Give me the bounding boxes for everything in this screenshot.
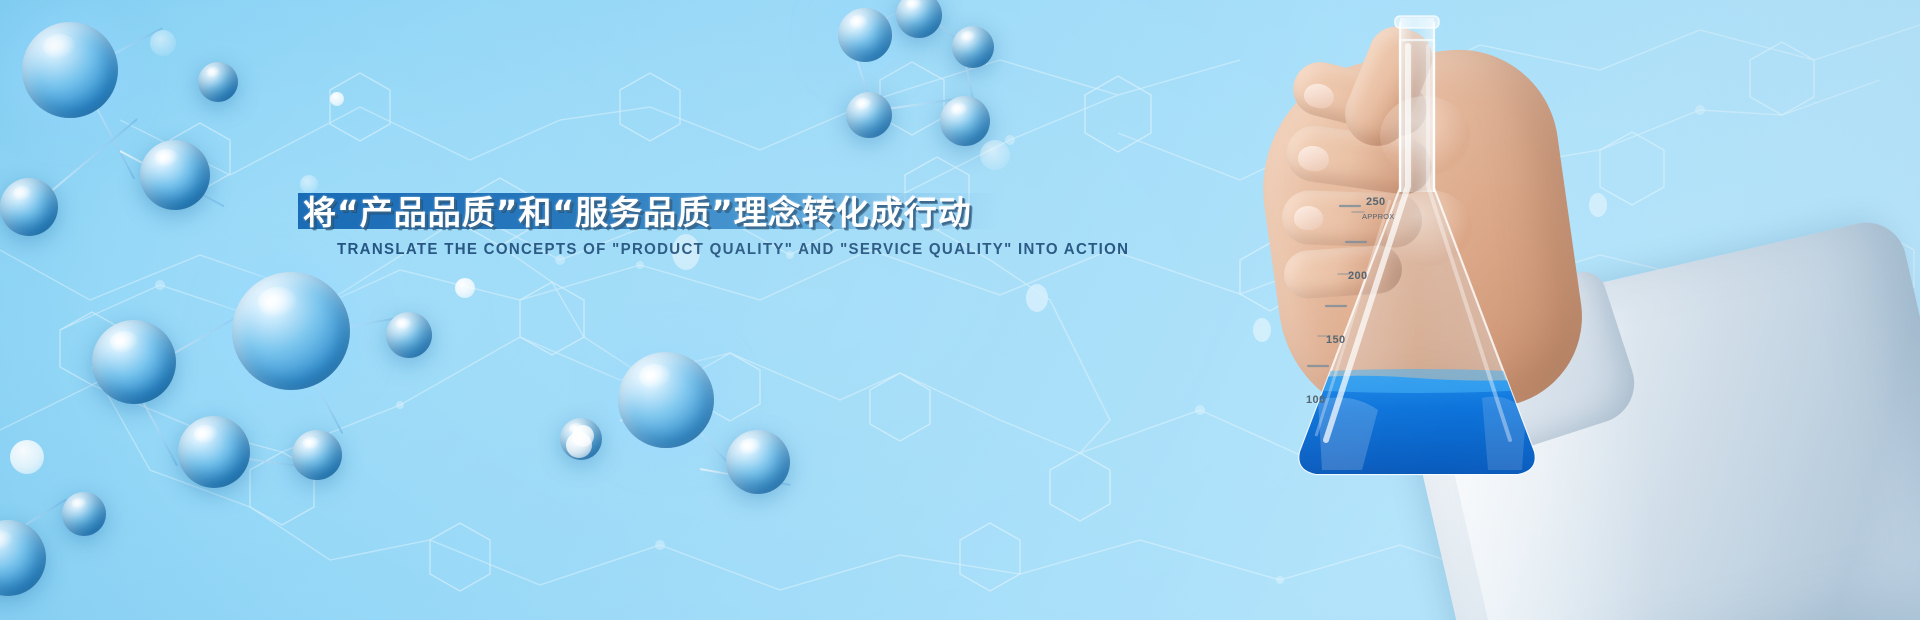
bubble-decor (572, 425, 594, 447)
flask-graduation-100: 100 (1306, 394, 1326, 406)
flask-graduation-200: 200 (1348, 270, 1368, 282)
page-title: 将“产品品质”和“服务品质”理念转化成行动 (303, 186, 972, 234)
bubble-decor (980, 140, 1010, 170)
scientist-hand-flask-photo: 250 APPROX 200 150 100 (1260, 0, 1920, 620)
page-subtitle: TRANSLATE THE CONCEPTS OF "PRODUCT QUALI… (337, 241, 1129, 259)
flask-graduation-150: 150 (1326, 334, 1346, 346)
hero-banner: 250 APPROX 200 150 100 将“产品品质”和“服务品质”理念转… (0, 0, 1920, 620)
bubble-decor (330, 92, 344, 106)
bubble-decor (455, 278, 475, 298)
flask-graduation-250: 250 (1366, 196, 1386, 208)
flask-graduation-250-approx: APPROX (1362, 212, 1394, 221)
erlenmeyer-flask: 250 APPROX 200 150 100 (1282, 0, 1612, 560)
